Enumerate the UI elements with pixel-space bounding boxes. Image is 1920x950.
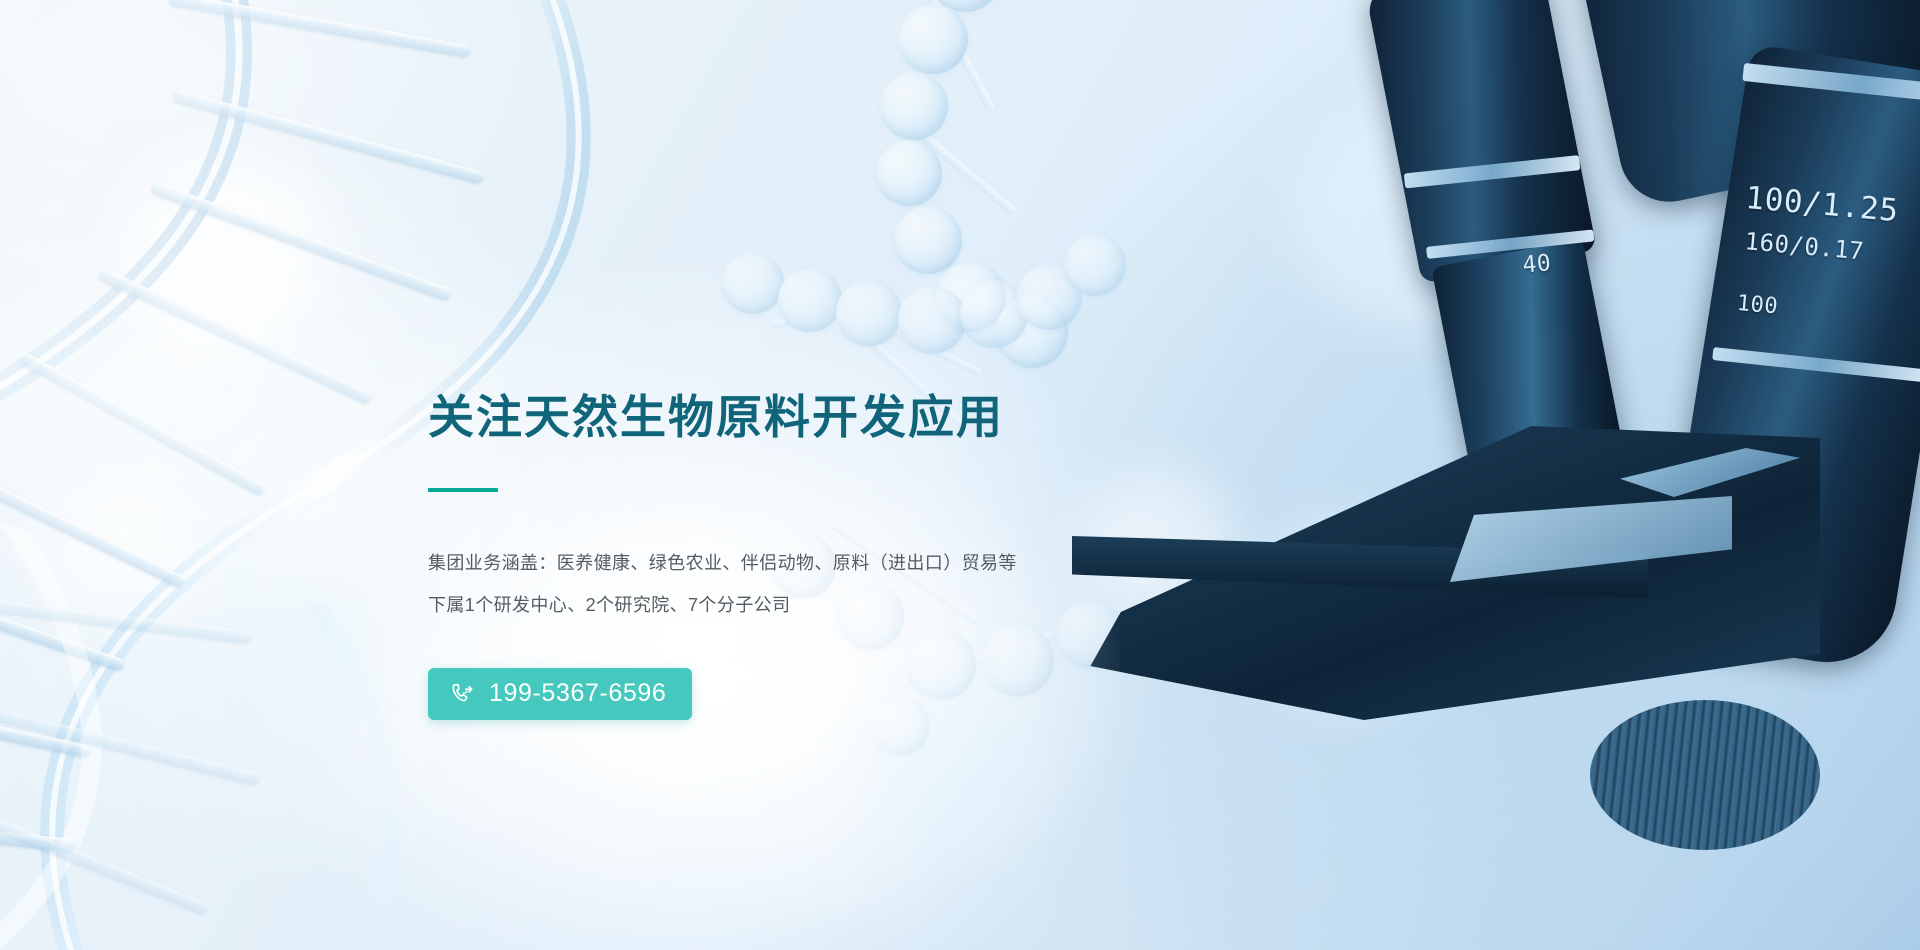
phone-forward-icon (450, 681, 476, 707)
title-divider (428, 488, 498, 492)
phone-number-label: 199-5367-6596 (489, 681, 666, 706)
description-line-2: 下属1个研发中心、2个研究院、7个分子公司 (428, 584, 1328, 626)
description-line-1: 集团业务涵盖：医养健康、绿色农业、伴侣动物、原料（进出口）贸易等 (428, 542, 1328, 584)
hero-content: 关注天然生物原料开发应用 集团业务涵盖：医养健康、绿色农业、伴侣动物、原料（进出… (428, 392, 1328, 720)
hero-description: 集团业务涵盖：医养健康、绿色农业、伴侣动物、原料（进出口）贸易等 下属1个研发中… (428, 542, 1328, 626)
page-title: 关注天然生物原料开发应用 (428, 392, 1328, 443)
phone-cta-button[interactable]: 199-5367-6596 (428, 668, 692, 720)
hero-banner: 100/1.25 160/0.17 100 40 关注天然生物原料开发应用 集团… (0, 0, 1920, 950)
